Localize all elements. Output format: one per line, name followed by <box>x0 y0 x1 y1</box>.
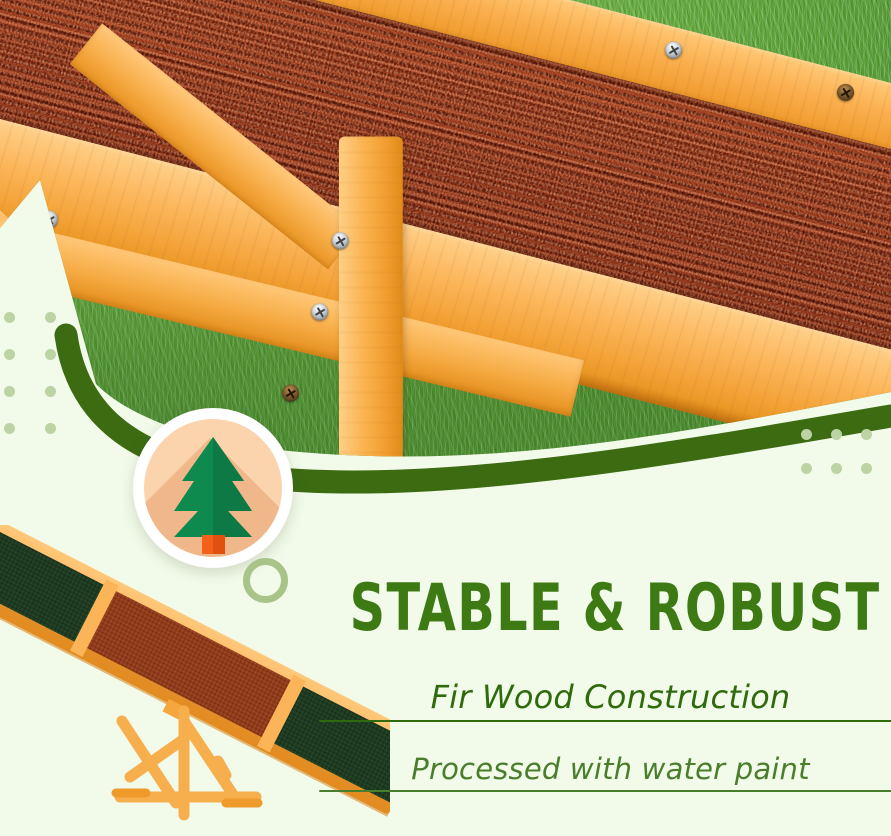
dot <box>4 349 15 360</box>
dot <box>861 429 872 440</box>
dot <box>45 349 56 360</box>
copy-block: STABLE & ROBUST Fir Wood Construction Pr… <box>330 575 891 786</box>
dot <box>45 386 56 397</box>
dot <box>801 463 812 474</box>
photo-canvas <box>0 0 891 470</box>
ramp-vertical-leg <box>339 136 403 466</box>
dot <box>4 386 15 397</box>
headline: STABLE & ROBUST <box>350 575 872 642</box>
subtitle-finish: Processed with water paint <box>330 752 891 786</box>
dot <box>45 312 56 323</box>
subtitle-material: Fir Wood Construction <box>330 678 891 716</box>
dot <box>4 312 15 323</box>
infographic-canvas: STABLE & ROBUST Fir Wood Construction Pr… <box>0 0 891 836</box>
decor-dots-right <box>801 429 891 497</box>
dot <box>4 423 15 434</box>
dot <box>831 429 842 440</box>
dot <box>45 423 56 434</box>
dot <box>801 429 812 440</box>
dot <box>861 463 872 474</box>
hero-product-photo <box>0 0 891 470</box>
decor-dots-left <box>4 312 86 460</box>
dot <box>831 463 842 474</box>
